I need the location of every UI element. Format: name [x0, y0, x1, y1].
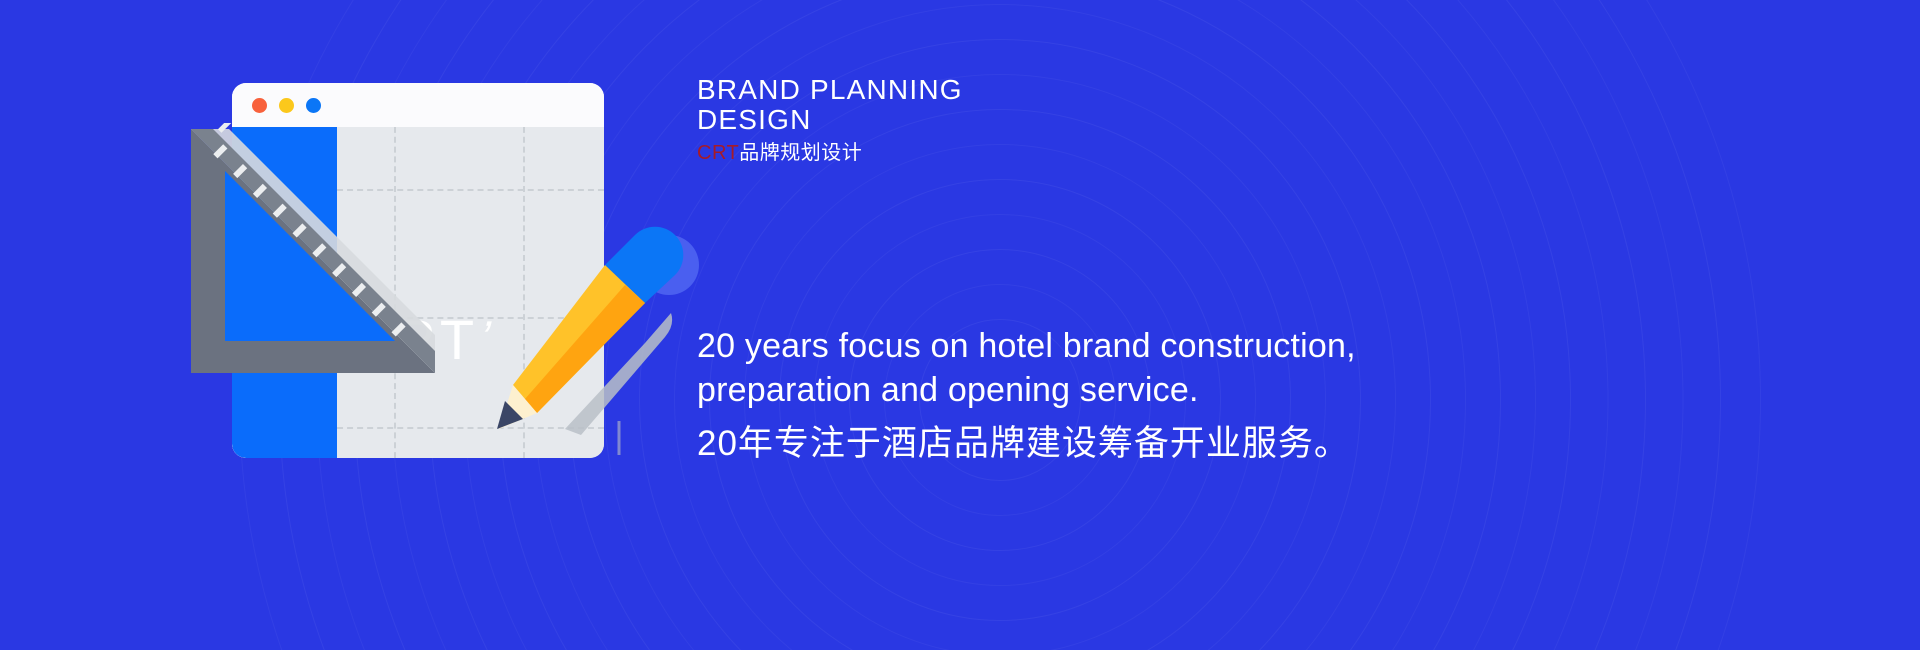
headline-chinese-line: CRT品牌规划设计	[697, 141, 1397, 165]
set-square-ruler-icon	[185, 123, 445, 383]
tagline-chinese: 20年专注于酒店品牌建设筹备开业服务。	[697, 422, 1797, 466]
headline-english: BRAND PLANNING DESIGN	[697, 75, 1397, 135]
close-dot-icon	[252, 98, 267, 113]
pencil-icon	[469, 225, 699, 455]
tagline-block: 20 years focus on hotel brand constructi…	[697, 325, 1797, 466]
brandmark-crt: CRT	[697, 142, 739, 164]
brand-banner: CRT’	[0, 0, 1920, 650]
headline-block: BRAND PLANNING DESIGN CRT品牌规划设计	[697, 75, 1397, 165]
minimize-dot-icon	[279, 98, 294, 113]
headline-chinese: 品牌规划设计	[739, 142, 862, 164]
maximize-dot-icon	[306, 98, 321, 113]
tagline-english: 20 years focus on hotel brand constructi…	[697, 325, 1797, 412]
browser-titlebar	[232, 83, 604, 127]
design-illustration: CRT’	[185, 70, 705, 570]
